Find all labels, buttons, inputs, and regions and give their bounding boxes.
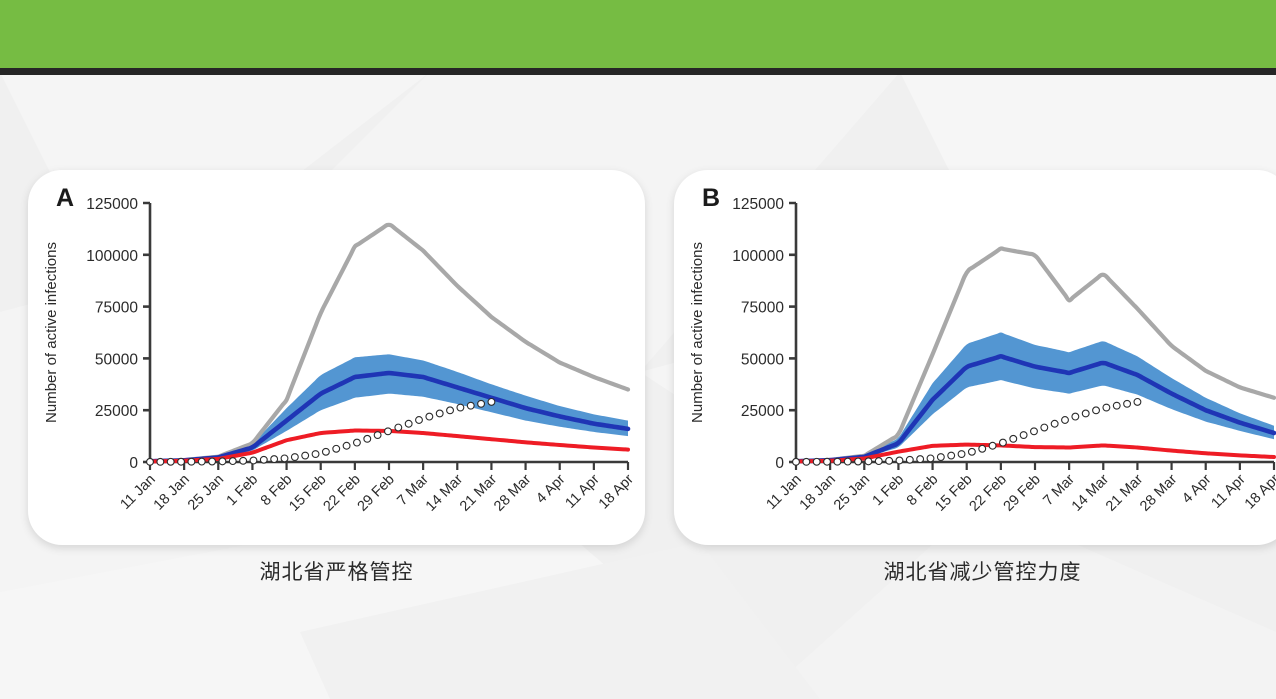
svg-text:29 Feb: 29 Feb xyxy=(355,472,398,515)
svg-text:21 Mar: 21 Mar xyxy=(457,471,500,514)
svg-text:100000: 100000 xyxy=(732,248,784,265)
caption-a: 湖北省严格管控 xyxy=(28,556,645,586)
svg-text:1 Feb: 1 Feb xyxy=(870,472,908,510)
svg-text:14 Mar: 14 Mar xyxy=(1069,471,1112,514)
svg-text:11 Jan: 11 Jan xyxy=(763,472,804,513)
svg-text:125000: 125000 xyxy=(732,196,784,213)
svg-text:50000: 50000 xyxy=(741,351,784,368)
svg-text:25000: 25000 xyxy=(741,403,784,420)
chart-a: 025000500007500010000012500011 Jan18 Jan… xyxy=(28,170,645,545)
svg-text:100000: 100000 xyxy=(86,248,138,265)
svg-text:Number of active infections: Number of active infections xyxy=(689,242,706,423)
svg-text:22 Feb: 22 Feb xyxy=(320,472,363,515)
slide-header xyxy=(0,0,1276,68)
svg-text:75000: 75000 xyxy=(95,300,138,317)
svg-text:18 Apr: 18 Apr xyxy=(596,471,637,512)
svg-text:125000: 125000 xyxy=(86,196,138,213)
svg-text:11 Apr: 11 Apr xyxy=(1209,471,1249,511)
svg-text:22 Feb: 22 Feb xyxy=(966,472,1009,515)
chart-panel-a: A 025000500007500010000012500011 Jan18 J… xyxy=(28,170,645,545)
svg-text:18 Apr: 18 Apr xyxy=(1242,471,1276,512)
caption-b: 湖北省减少管控力度 xyxy=(674,556,1276,586)
svg-text:Number of active infections: Number of active infections xyxy=(43,242,60,423)
svg-text:75000: 75000 xyxy=(741,300,784,317)
svg-text:28 Mar: 28 Mar xyxy=(491,471,534,514)
svg-text:25 Jan: 25 Jan xyxy=(185,472,227,514)
svg-text:11 Jan: 11 Jan xyxy=(117,472,158,513)
svg-text:18 Jan: 18 Jan xyxy=(797,472,839,514)
svg-text:15 Feb: 15 Feb xyxy=(286,472,329,515)
svg-text:25 Jan: 25 Jan xyxy=(831,472,873,514)
svg-text:29 Feb: 29 Feb xyxy=(1001,472,1044,515)
svg-text:18 Jan: 18 Jan xyxy=(151,472,193,514)
svg-text:21 Mar: 21 Mar xyxy=(1103,471,1146,514)
svg-text:14 Mar: 14 Mar xyxy=(423,471,466,514)
svg-text:28 Mar: 28 Mar xyxy=(1137,471,1180,514)
svg-text:0: 0 xyxy=(775,455,784,472)
svg-text:25000: 25000 xyxy=(95,403,138,420)
slide: 湖北预测趋势 xyxy=(0,0,1276,699)
svg-text:0: 0 xyxy=(129,455,138,472)
chart-b: 025000500007500010000012500011 Jan18 Jan… xyxy=(674,170,1276,545)
svg-text:50000: 50000 xyxy=(95,351,138,368)
svg-text:1 Feb: 1 Feb xyxy=(224,472,262,510)
svg-text:15 Feb: 15 Feb xyxy=(932,472,975,515)
chart-panel-b: B 025000500007500010000012500011 Jan18 J… xyxy=(674,170,1276,545)
header-divider xyxy=(0,68,1276,75)
svg-text:11 Apr: 11 Apr xyxy=(563,471,603,511)
